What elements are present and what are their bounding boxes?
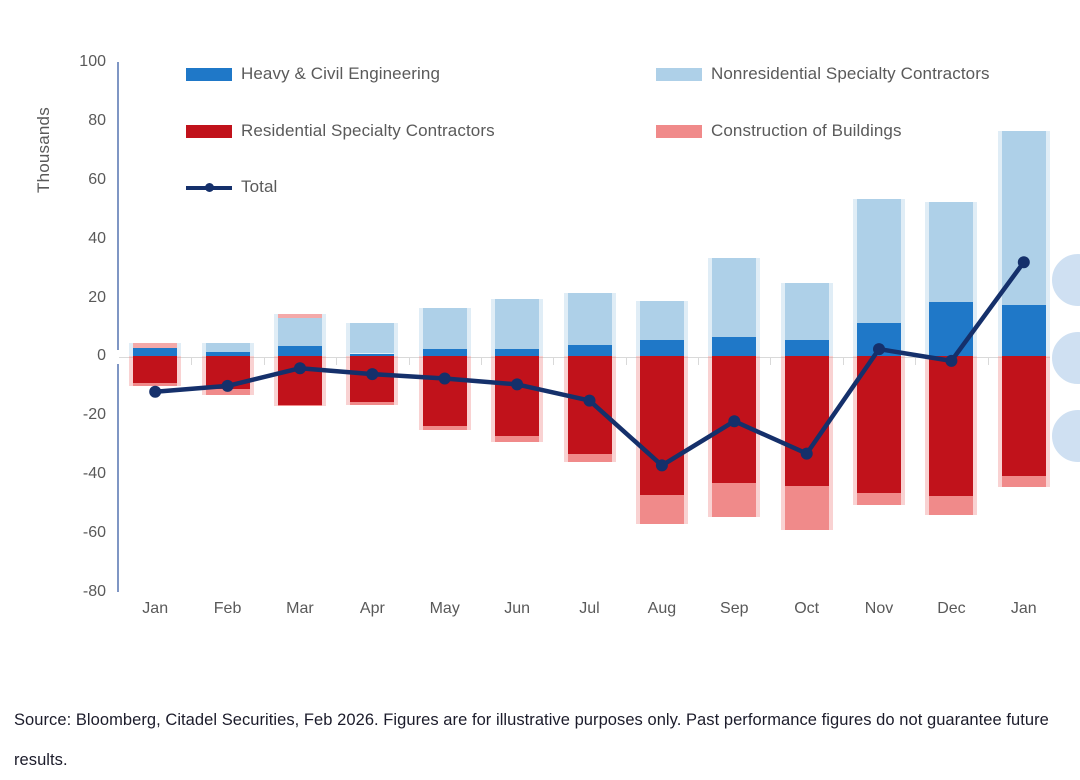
x-axis-tick-label: Apr: [360, 600, 385, 618]
x-axis-tick-mark: [481, 358, 482, 365]
chart-legend: Heavy & Civil EngineeringNonresidential …: [186, 64, 1006, 214]
total-line-marker[interactable]: [1018, 256, 1030, 268]
legend-label: Heavy & Civil Engineering: [241, 64, 440, 84]
x-axis-tick-label: Jan: [1011, 600, 1037, 618]
total-line-marker[interactable]: [149, 386, 161, 398]
y-axis-tick-label: -40: [60, 465, 106, 483]
legend-item[interactable]: Construction of Buildings: [656, 121, 902, 141]
x-axis-tick-mark: [264, 358, 265, 365]
total-line-marker[interactable]: [511, 378, 523, 390]
x-axis-tick-label: Nov: [865, 600, 893, 618]
y-axis-tick-label: -20: [60, 406, 106, 424]
legend-label: Construction of Buildings: [711, 121, 902, 141]
total-line-marker[interactable]: [294, 362, 306, 374]
legend-line-marker-icon: [186, 181, 232, 194]
total-line-marker[interactable]: [801, 448, 813, 460]
total-line-marker[interactable]: [656, 459, 668, 471]
x-axis-tick-label: Jun: [504, 600, 530, 618]
y-axis-title: Thousands: [34, 60, 58, 240]
total-line-path: [155, 262, 1024, 465]
x-axis-tick-mark: [191, 358, 192, 365]
x-axis-tick-label: Oct: [794, 600, 819, 618]
x-axis-tick-label: Sep: [720, 600, 748, 618]
legend-color-swatch: [186, 68, 232, 81]
x-axis-tick-mark: [553, 358, 554, 365]
x-axis-tick-label: May: [430, 600, 460, 618]
x-axis-tick-mark: [626, 358, 627, 365]
x-axis-tick-mark: [843, 358, 844, 365]
y-axis-tick-label: 100: [60, 53, 106, 71]
y-axis-tick-label: 40: [60, 230, 106, 248]
legend-label: Nonresidential Specialty Contractors: [711, 64, 990, 84]
x-axis-tick-label: Feb: [214, 600, 242, 618]
legend-item[interactable]: Residential Specialty Contractors: [186, 121, 495, 141]
y-axis-tick-label: 80: [60, 112, 106, 130]
y-axis-tick-label: -60: [60, 524, 106, 542]
y-axis-tick-label: -80: [60, 583, 106, 601]
total-line-marker[interactable]: [584, 395, 596, 407]
total-line-marker[interactable]: [728, 415, 740, 427]
x-axis-tick-label: Aug: [648, 600, 676, 618]
total-line-marker[interactable]: [366, 368, 378, 380]
x-axis-tick-label: Jan: [142, 600, 168, 618]
x-axis-tick-mark: [770, 358, 771, 365]
legend-color-swatch: [186, 125, 232, 138]
legend-color-swatch: [656, 125, 702, 138]
x-axis-tick-mark: [698, 358, 699, 365]
legend-label: Total: [241, 177, 277, 197]
x-axis-tick-label: Dec: [937, 600, 965, 618]
legend-item[interactable]: Heavy & Civil Engineering: [186, 64, 440, 84]
legend-item[interactable]: Total: [186, 177, 277, 197]
x-axis-tick-mark: [409, 358, 410, 365]
chart-frame: Thousands 100806040200-20-40-60-80 JanFe…: [0, 0, 1080, 676]
x-axis-tick-mark: [336, 358, 337, 365]
y-axis-tick-label: 60: [60, 171, 106, 189]
y-axis-tick-label: 20: [60, 289, 106, 307]
x-axis-tick-mark: [915, 358, 916, 365]
x-axis-tick-labels: JanFebMarAprMayJunJulAugSepOctNovDecJan: [119, 600, 1060, 630]
total-line-marker[interactable]: [222, 380, 234, 392]
x-axis-tick-label: Jul: [579, 600, 599, 618]
legend-item[interactable]: Nonresidential Specialty Contractors: [656, 64, 990, 84]
y-axis-tick-labels: 100806040200-20-40-60-80: [60, 0, 106, 676]
source-footnote: Source: Bloomberg, Citadel Securities, F…: [14, 700, 1074, 780]
legend-color-swatch: [656, 68, 702, 81]
legend-label: Residential Specialty Contractors: [241, 121, 495, 141]
x-axis-tick-mark: [988, 358, 989, 365]
total-line-marker[interactable]: [945, 355, 957, 367]
total-line-marker[interactable]: [873, 343, 885, 355]
x-axis-tick-label: Mar: [286, 600, 314, 618]
y-axis-tick-label: 0: [60, 347, 106, 365]
chart-page: Thousands 100806040200-20-40-60-80 JanFe…: [0, 0, 1080, 774]
total-line-marker[interactable]: [439, 373, 451, 385]
